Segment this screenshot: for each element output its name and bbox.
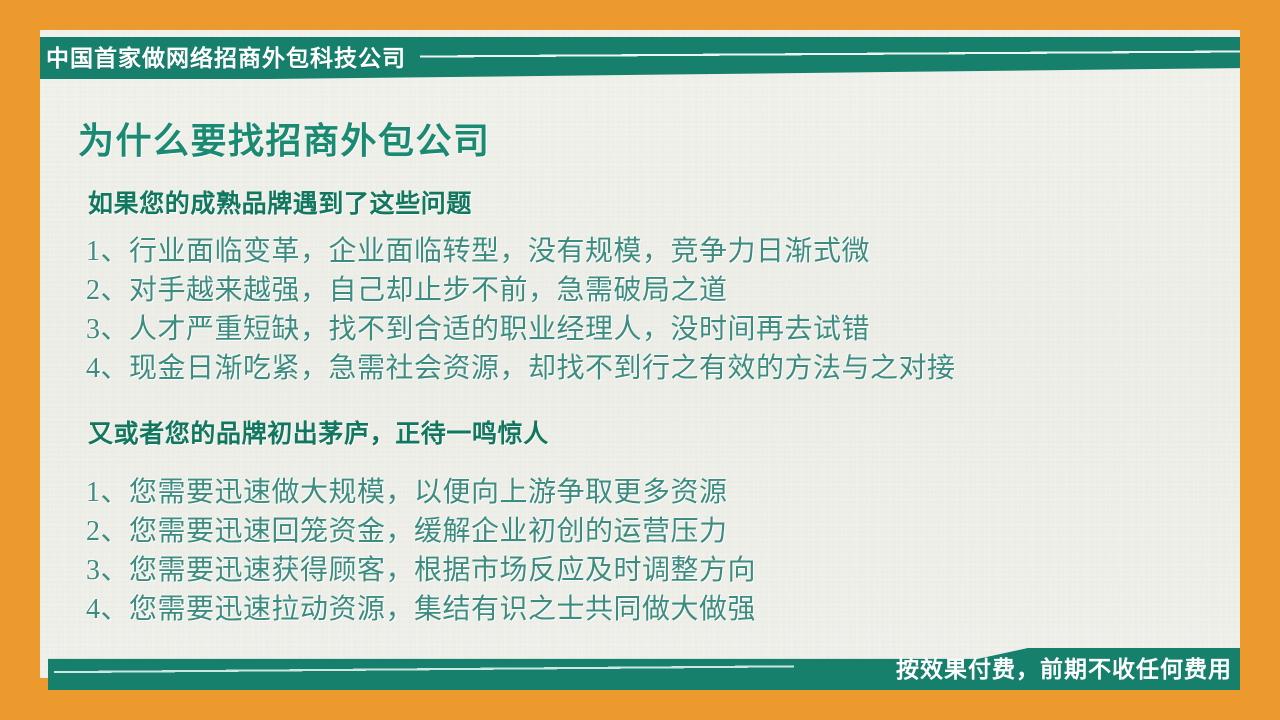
list-item: 3、您需要迅速获得顾客，根据市场反应及时调整方向 (86, 551, 756, 590)
list-item: 2、对手越来越强，自己却止步不前，急需破局之道 (86, 271, 956, 310)
section-1-list: 1、行业面临变革，企业面临转型，没有规模，竞争力日渐式微 2、对手越来越强，自己… (86, 232, 956, 388)
list-item: 2、您需要迅速回笼资金，缓解企业初创的运营压力 (86, 512, 756, 551)
section-heading-1: 如果您的成熟品牌遇到了这些问题 (88, 188, 472, 220)
list-item: 4、您需要迅速拉动资源，集结有识之士共同做大做强 (86, 590, 756, 629)
list-item: 1、行业面临变革，企业面临转型，没有规模，竞争力日渐式微 (86, 232, 956, 271)
header-title: 中国首家做网络招商外包科技公司 (46, 43, 406, 73)
slide-canvas: 中国首家做网络招商外包科技公司 为什么要找招商外包公司 如果您的成熟品牌遇到了这… (0, 0, 1280, 720)
list-item: 3、人才严重短缺，找不到合适的职业经理人，没时间再去试错 (86, 310, 956, 349)
list-item: 4、现金日渐吃紧，急需社会资源，却找不到行之有效的方法与之对接 (86, 349, 956, 388)
footer-tagline: 按效果付费，前期不收任何费用 (896, 653, 1232, 685)
list-item: 1、您需要迅速做大规模，以便向上游争取更多资源 (86, 473, 756, 512)
section-2-list: 1、您需要迅速做大规模，以便向上游争取更多资源 2、您需要迅速回笼资金，缓解企业… (86, 473, 756, 629)
section-heading-2: 又或者您的品牌初出茅庐，正待一鸣惊人 (88, 418, 549, 450)
page-title: 为什么要找招商外包公司 (78, 118, 491, 164)
